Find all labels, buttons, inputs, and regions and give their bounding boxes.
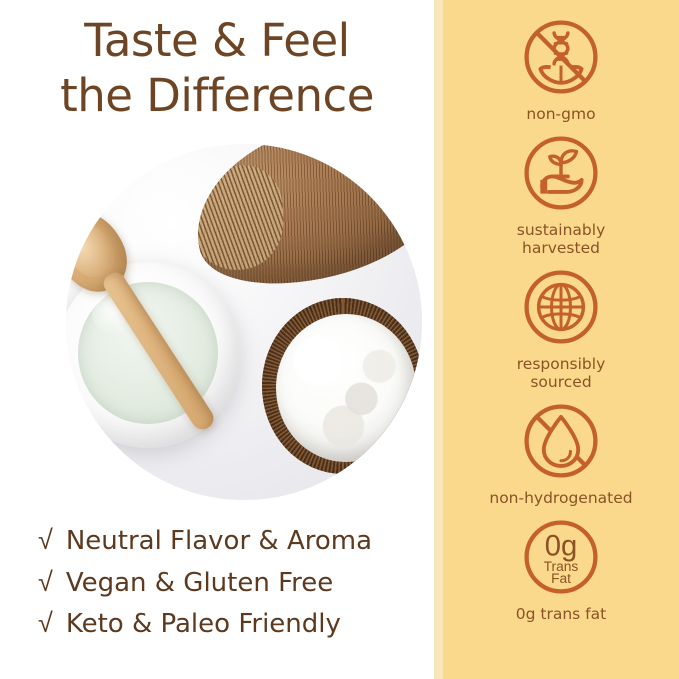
- list-item: √ Neutral Flavor & Aroma: [38, 526, 434, 557]
- icon-text-0g: 0g: [545, 530, 578, 562]
- badge-responsibly-sourced: responsibly sourced: [443, 264, 679, 392]
- zero-g-trans-fat-icon: 0g Trans Fat: [518, 514, 604, 600]
- non-gmo-dna-icon: [518, 14, 604, 100]
- badge-label: responsibly sourced: [517, 355, 606, 392]
- badge-sustainably-harvested: sustainably harvested: [443, 130, 679, 258]
- halved-coconut: [262, 298, 422, 474]
- feature-label: Keto & Paleo Friendly: [66, 609, 341, 640]
- product-infographic: Taste & Feel the Difference: [0, 0, 679, 679]
- badge-label-line-2: harvested: [517, 239, 606, 258]
- checkmark-icon: √: [38, 610, 53, 637]
- badge-label: 0g trans fat: [516, 605, 606, 624]
- left-panel: Taste & Feel the Difference: [0, 0, 434, 679]
- badge-label-line-2: sourced: [517, 373, 606, 392]
- badge-label-line-1: sustainably: [517, 221, 606, 239]
- list-item: √ Keto & Paleo Friendly: [38, 609, 434, 640]
- feature-label: Vegan & Gluten Free: [66, 568, 333, 599]
- photo-composition: [66, 144, 422, 500]
- product-photo: [66, 144, 422, 500]
- badge-non-gmo: non-gmo: [443, 14, 679, 124]
- badge-label-line-1: non-gmo: [526, 105, 595, 123]
- page-title: Taste & Feel the Difference: [0, 14, 434, 124]
- globe-icon: [518, 264, 604, 350]
- badge-sidebar: non-gmo sustainably harvested: [443, 0, 679, 679]
- hand-holding-sprout-icon: [518, 130, 604, 216]
- badge-label-line-1: 0g trans fat: [516, 605, 606, 623]
- badge-label-line-1: non-hydrogenated: [489, 489, 632, 507]
- badge-label: non-hydrogenated: [489, 489, 632, 508]
- badge-label: non-gmo: [526, 105, 595, 124]
- badge-non-hydrogenated: non-hydrogenated: [443, 398, 679, 508]
- headline-line-2: the Difference: [0, 69, 434, 124]
- list-item: √ Vegan & Gluten Free: [38, 568, 434, 599]
- badge-label: sustainably harvested: [517, 221, 606, 258]
- coconut-oil-in-shell: [276, 314, 416, 462]
- feature-list: √ Neutral Flavor & Aroma √ Vegan & Glute…: [38, 526, 434, 651]
- feature-label: Neutral Flavor & Aroma: [66, 526, 372, 557]
- badge-zero-trans-fat: 0g Trans Fat 0g trans fat: [443, 514, 679, 624]
- checkmark-icon: √: [38, 527, 53, 554]
- badge-label-line-1: responsibly: [517, 355, 606, 373]
- divider-strip: [434, 0, 443, 679]
- icon-text-fat: Fat: [551, 570, 571, 585]
- checkmark-icon: √: [38, 569, 53, 596]
- headline-line-1: Taste & Feel: [84, 14, 349, 67]
- non-hydrogenated-droplet-icon: [518, 398, 604, 484]
